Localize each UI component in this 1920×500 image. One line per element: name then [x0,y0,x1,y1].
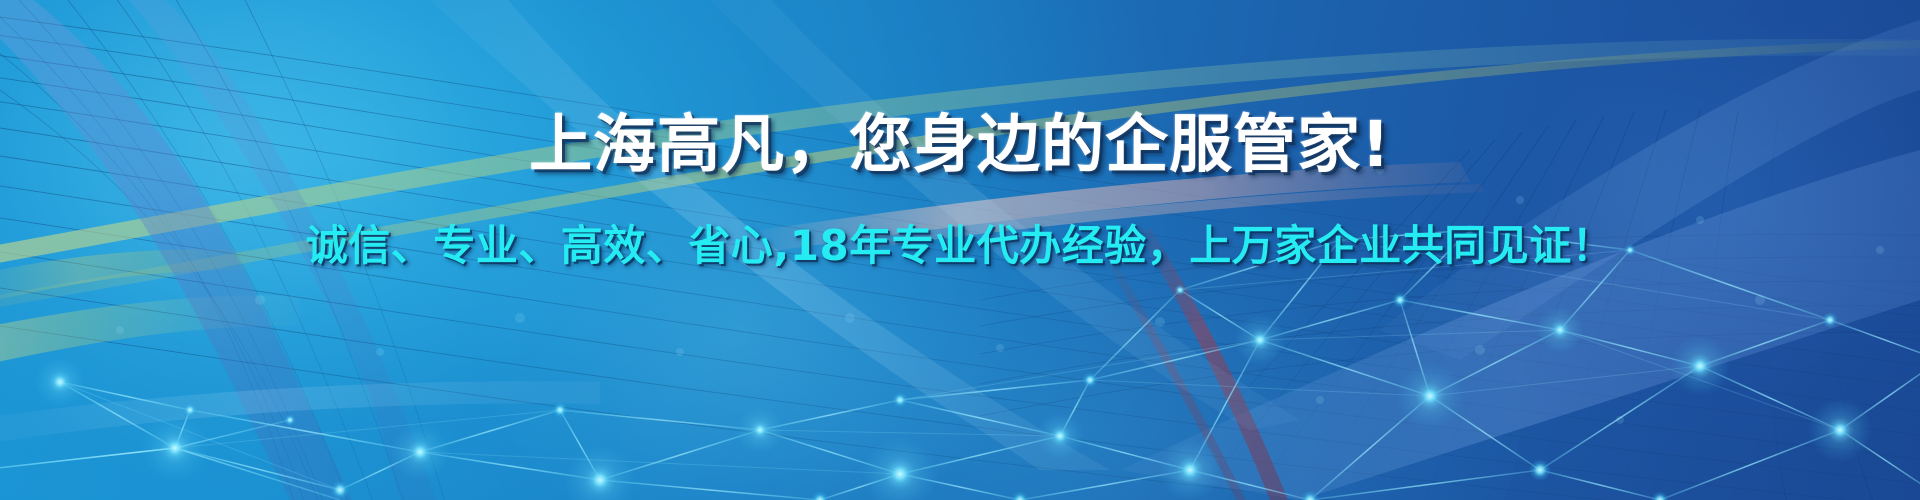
banner-copy: 上海高凡，您身边的企服管家! 诚信、专业、高效、省心,18年专业代办经验，上万家… [0,0,1920,500]
banner-headline: 上海高凡，您身边的企服管家! [529,112,1391,179]
banner-subheadline: 诚信、专业、高效、省心,18年专业代办经验，上万家企业共同见证！ [306,223,1614,268]
promo-banner: 上海高凡，您身边的企服管家! 诚信、专业、高效、省心,18年专业代办经验，上万家… [0,0,1920,500]
